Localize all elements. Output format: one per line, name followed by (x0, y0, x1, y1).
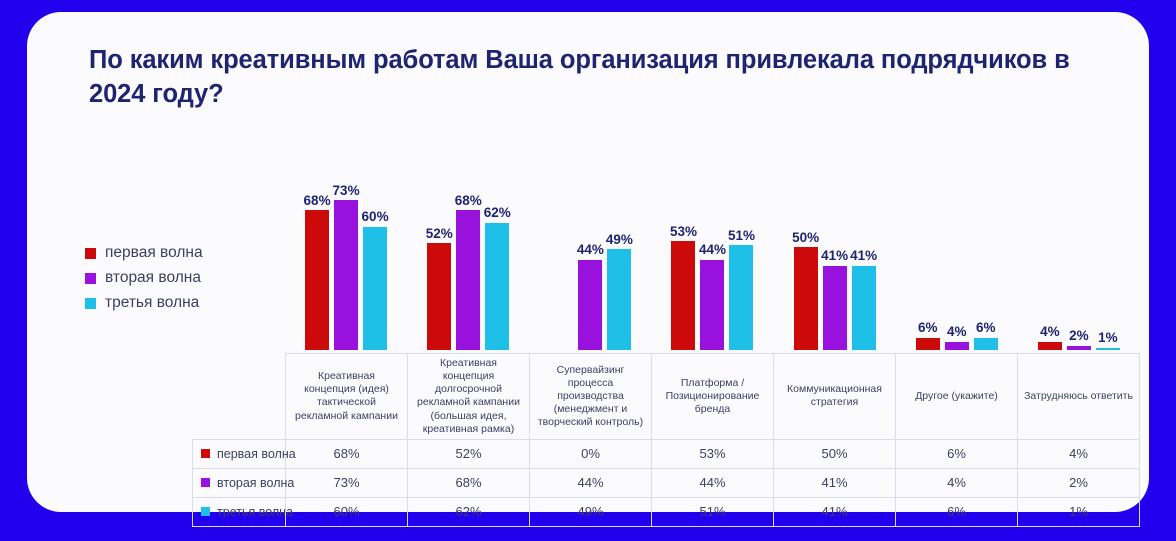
bar (1096, 348, 1120, 350)
bar-slot: 4% (945, 132, 969, 350)
table-row-header: вторая волна (193, 468, 286, 497)
bar-value-label: 52% (426, 227, 453, 241)
table-cell: 1% (1018, 497, 1140, 526)
bar-slot: 49% (607, 132, 631, 350)
bar-slot (549, 132, 573, 350)
legend-item-label: первая волна (105, 244, 203, 262)
bar (823, 266, 847, 350)
table-cell: 0% (530, 439, 652, 468)
table-column-header: Супервайзинг процесса производства (мене… (530, 354, 652, 440)
bar-slot: 44% (578, 132, 602, 350)
table-row-header: первая волна (193, 439, 286, 468)
bar-slot: 44% (700, 132, 724, 350)
bar (334, 200, 358, 350)
bar-group: 68%73%60% (285, 132, 407, 350)
table-column-header: Платформа / Позиционирование бренда (652, 354, 774, 440)
legend-item-label: третья волна (105, 294, 199, 312)
bar-slot: 68% (456, 132, 480, 350)
legend-item: первая волна (85, 244, 203, 262)
table-cell: 2% (1018, 468, 1140, 497)
page-title: По каким креативным работам Ваша организ… (89, 44, 1104, 112)
bar (427, 243, 451, 350)
bar (852, 266, 876, 350)
table-column-header: Коммуникационная стратегия (774, 354, 896, 440)
legend-item-label: вторая волна (105, 269, 201, 287)
table-column-header: Затрудняюсь ответить (1018, 354, 1140, 440)
table-body: первая волна68%52%0%53%50%6%4%вторая вол… (193, 439, 1140, 526)
table-cell: 50% (774, 439, 896, 468)
table-column-header: Креативная концепция (идея) тактической … (286, 354, 408, 440)
bar-slot: 41% (852, 132, 876, 350)
table-row-label: первая волна (217, 447, 296, 461)
bar-value-label: 44% (699, 243, 726, 257)
table-column-header: Креативная концепция долгосрочной реклам… (408, 354, 530, 440)
bar (945, 342, 969, 350)
bar-slot: 68% (305, 132, 329, 350)
slide-card: По каким креативным работам Ваша организ… (27, 12, 1149, 512)
table-row: первая волна68%52%0%53%50%6%4% (193, 439, 1140, 468)
table-corner-cell (193, 354, 286, 440)
bar (1067, 346, 1091, 350)
table-row: вторая волна73%68%44%44%41%4%2% (193, 468, 1140, 497)
bar (700, 260, 724, 350)
bar-value-label: 50% (792, 231, 819, 245)
bar-group: 6%4%6% (896, 132, 1018, 350)
bar (305, 210, 329, 350)
bar-slot: 50% (794, 132, 818, 350)
table-row-label: третья волна (217, 505, 293, 519)
bar-value-label: 73% (333, 184, 360, 198)
bar-value-label: 6% (976, 321, 996, 335)
bar (607, 249, 631, 350)
legend-swatch-icon (85, 298, 96, 309)
bar-group: 53%44%51% (651, 132, 773, 350)
bar-value-label: 68% (455, 194, 482, 208)
table-cell: 49% (530, 497, 652, 526)
table-cell: 73% (286, 468, 408, 497)
table-header: Креативная концепция (идея) тактической … (193, 354, 1140, 440)
table-cell: 6% (896, 497, 1018, 526)
bar-slot: 60% (363, 132, 387, 350)
table-row-header: третья волна (193, 497, 286, 526)
bar-slot: 51% (729, 132, 753, 350)
bar-value-label: 4% (1040, 325, 1060, 339)
bar-value-label: 6% (918, 321, 938, 335)
bar-value-label: 60% (362, 210, 389, 224)
bar-slot: 62% (485, 132, 509, 350)
table-cell: 44% (530, 468, 652, 497)
bar-value-label: 2% (1069, 329, 1089, 343)
bar (671, 241, 695, 350)
table-cell: 53% (652, 439, 774, 468)
bar-slot: 6% (974, 132, 998, 350)
data-table: Креативная концепция (идея) тактической … (192, 353, 1140, 527)
bar-slot: 73% (334, 132, 358, 350)
bar-value-label: 1% (1098, 331, 1118, 345)
bar-value-label: 44% (577, 243, 604, 257)
table-header-row: Креативная концепция (идея) тактической … (193, 354, 1140, 440)
series-swatch-icon (201, 449, 210, 458)
legend-swatch-icon (85, 248, 96, 259)
bar-group: 4%2%1% (1018, 132, 1140, 350)
table-cell: 60% (286, 497, 408, 526)
table-cell: 4% (1018, 439, 1140, 468)
bar-value-label: 53% (670, 225, 697, 239)
bar (485, 223, 509, 350)
bar (794, 247, 818, 350)
bar-slot: 41% (823, 132, 847, 350)
table-cell: 6% (896, 439, 1018, 468)
chart-legend: первая волнавторая волнатретья волна (85, 244, 203, 312)
table-cell: 44% (652, 468, 774, 497)
bar (363, 227, 387, 350)
table-cell: 68% (408, 468, 530, 497)
bar-value-label: 68% (304, 194, 331, 208)
bar-group: 50%41%41% (774, 132, 896, 350)
bar (916, 338, 940, 350)
table-cell: 4% (896, 468, 1018, 497)
table-cell: 51% (652, 497, 774, 526)
bar-value-label: 4% (947, 325, 967, 339)
legend-swatch-icon (85, 273, 96, 284)
legend-item: третья волна (85, 294, 203, 312)
bar-value-label: 51% (728, 229, 755, 243)
table-cell: 62% (408, 497, 530, 526)
bar-slot: 6% (916, 132, 940, 350)
bar-value-label: 49% (606, 233, 633, 247)
bar-value-label: 62% (484, 206, 511, 220)
bar-group: 44%49% (529, 132, 651, 350)
bar-value-label: 41% (821, 249, 848, 263)
bar-slot: 1% (1096, 132, 1120, 350)
series-swatch-icon (201, 478, 210, 487)
bar-slot: 52% (427, 132, 451, 350)
bar (578, 260, 602, 350)
table-cell: 41% (774, 497, 896, 526)
bar (1038, 342, 1062, 350)
table-cell: 52% (408, 439, 530, 468)
bar-value-label: 41% (850, 249, 877, 263)
bar-group: 52%68%62% (407, 132, 529, 350)
bar-slot: 4% (1038, 132, 1062, 350)
bar (729, 245, 753, 350)
table-column-header: Другое (укажите) (896, 354, 1018, 440)
table-cell: 41% (774, 468, 896, 497)
bar (974, 338, 998, 350)
bar (456, 210, 480, 350)
bar-slot: 2% (1067, 132, 1091, 350)
legend-item: вторая волна (85, 269, 203, 287)
table-row-label: вторая волна (217, 476, 294, 490)
table-cell: 68% (286, 439, 408, 468)
series-swatch-icon (201, 507, 210, 516)
bar-chart-plot: 68%73%60%52%68%62%44%49%53%44%51%50%41%4… (285, 132, 1140, 350)
table-row: третья волна60%62%49%51%41%6%1% (193, 497, 1140, 526)
bar-slot: 53% (671, 132, 695, 350)
